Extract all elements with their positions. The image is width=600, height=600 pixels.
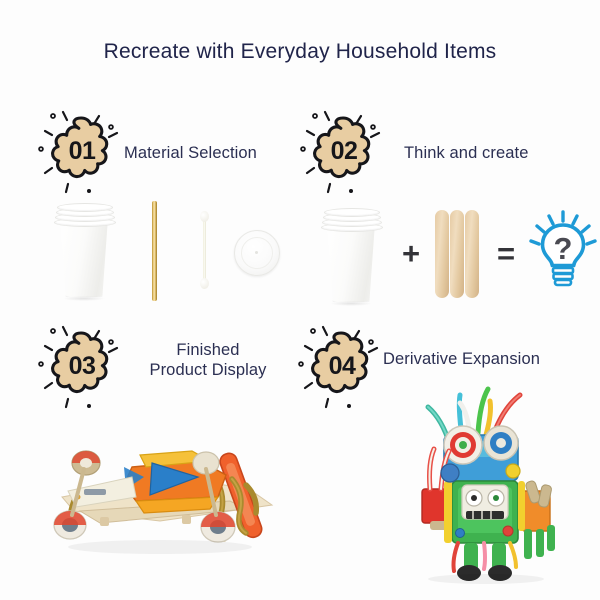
- cup-rim: [324, 208, 380, 217]
- materials-row: [45, 198, 295, 308]
- equals-sign: =: [497, 238, 515, 269]
- cup-body: [57, 221, 111, 297]
- swab-tip: [200, 211, 209, 222]
- craft-stick: [435, 210, 449, 298]
- cup-rim: [57, 203, 113, 212]
- step-number-03: 03: [45, 330, 118, 402]
- cup-body: [324, 226, 378, 302]
- plastic-lid-item: [234, 230, 280, 276]
- equation-paper-cup: [320, 208, 382, 304]
- lid-center-dot: [255, 251, 258, 254]
- craft-stick: [450, 210, 464, 298]
- craft-stick: [465, 210, 479, 298]
- equation-row: + =: [312, 198, 590, 308]
- swab-stick: [203, 216, 206, 284]
- step-label-03-line2: Product Display: [118, 360, 298, 380]
- swab-tip: [200, 278, 209, 289]
- craft-sticks-item: [435, 210, 481, 298]
- page-title: Recreate with Everyday Household Items: [0, 40, 600, 64]
- step-badge-01: 01: [33, 103, 129, 199]
- craft-robot-photo: [400, 385, 595, 585]
- cotton-swab-item: [200, 211, 209, 289]
- step-label-03: Finished Product Display: [118, 340, 298, 380]
- step-badge-03: 03: [33, 318, 129, 414]
- step-number-02: 02: [307, 115, 380, 187]
- step-badge-02: 02: [295, 103, 391, 199]
- bamboo-skewer-item: [152, 201, 157, 301]
- step-badge-04: 04: [293, 318, 389, 414]
- step-number-01: 01: [45, 115, 118, 187]
- step-label-02: Think and create: [404, 143, 584, 163]
- wooden-toy-race-car-photo: [40, 405, 305, 570]
- cup-shadow: [330, 301, 372, 306]
- plus-sign: +: [402, 238, 420, 269]
- paper-cup-stack-item: [53, 203, 115, 299]
- step-label-03-line1: Finished: [118, 340, 298, 360]
- step-number-04: 04: [305, 330, 378, 402]
- step-label-04: Derivative Expansion: [383, 349, 598, 369]
- cup-shadow: [63, 296, 105, 301]
- question-mark-glyph: ?: [554, 231, 573, 266]
- step-label-01: Material Selection: [124, 143, 304, 163]
- poster-root: Recreate with Everyday Household Items 0…: [0, 0, 600, 600]
- lightbulb-question-icon: ?: [527, 210, 599, 290]
